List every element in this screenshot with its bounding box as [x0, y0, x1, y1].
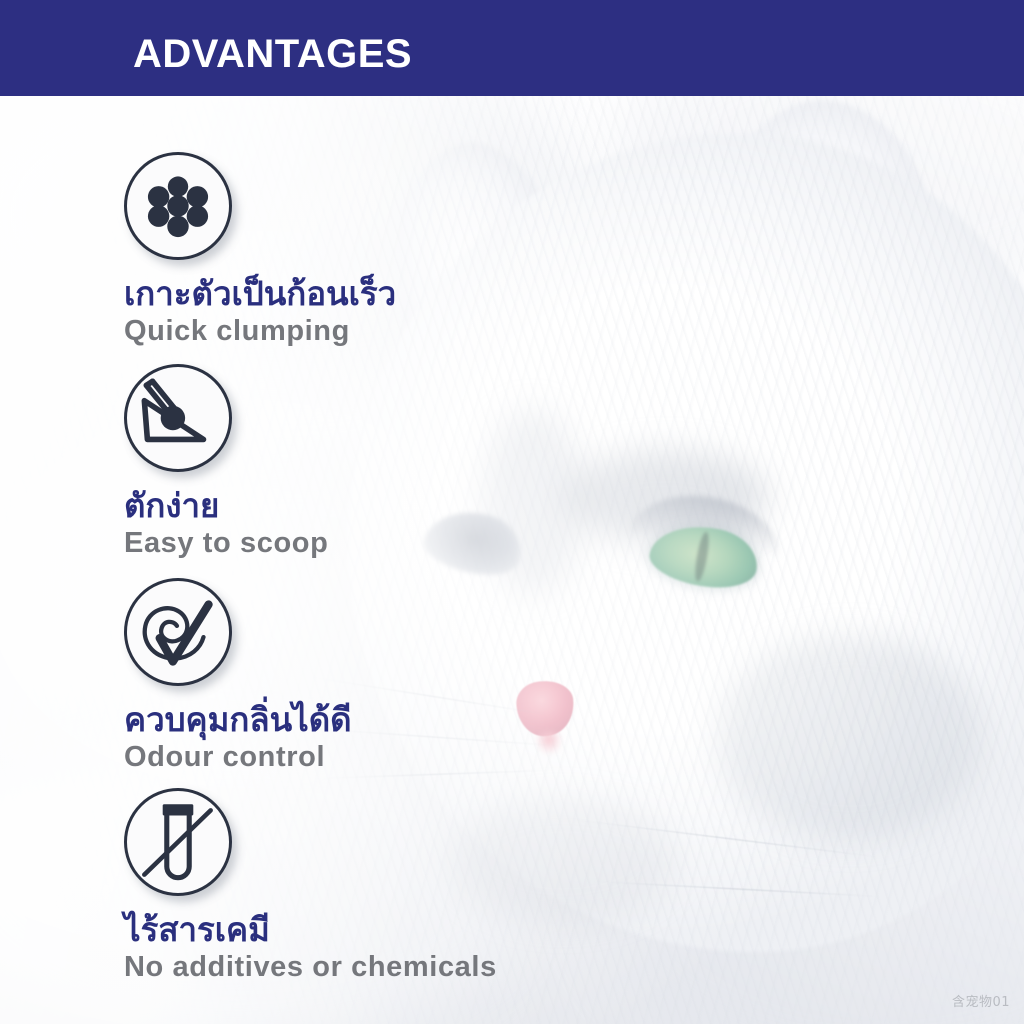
odour-swirl-check-icon: [124, 578, 232, 686]
advantage-label-english: No additives or chemicals: [124, 951, 497, 983]
product-advantages-infographic: ADVANTAGES เกาะตัวเป็นก้อนเร็ว Quick clu…: [0, 0, 1024, 1024]
advantage-item-odour-control: ควบคุมกลิ่นได้ดี Odour control: [124, 578, 352, 773]
no-test-tube-icon: [124, 788, 232, 896]
advantage-item-quick-clumping: เกาะตัวเป็นก้อนเร็ว Quick clumping: [124, 152, 396, 347]
advantage-item-easy-to-scoop: ตักง่าย Easy to scoop: [124, 364, 328, 559]
page-title: ADVANTAGES: [133, 34, 412, 74]
advantage-label-english: Quick clumping: [124, 315, 396, 347]
watermark: 含宠物01: [952, 991, 1010, 1010]
advantage-label-thai: ควบคุมกลิ่นได้ดี: [124, 702, 352, 739]
header-bar: ADVANTAGES: [0, 0, 1024, 96]
advantage-label-english: Easy to scoop: [124, 527, 328, 559]
advantage-label-thai: ไร้สารเคมี: [124, 912, 497, 949]
dustpan-scoop-icon: [124, 364, 232, 472]
advantage-label-english: Odour control: [124, 741, 352, 773]
clumping-dots-icon: [124, 152, 232, 260]
advantage-item-no-chemicals: ไร้สารเคมี No additives or chemicals: [124, 788, 497, 983]
advantage-label-thai: เกาะตัวเป็นก้อนเร็ว: [124, 276, 396, 313]
advantage-label-thai: ตักง่าย: [124, 488, 328, 525]
